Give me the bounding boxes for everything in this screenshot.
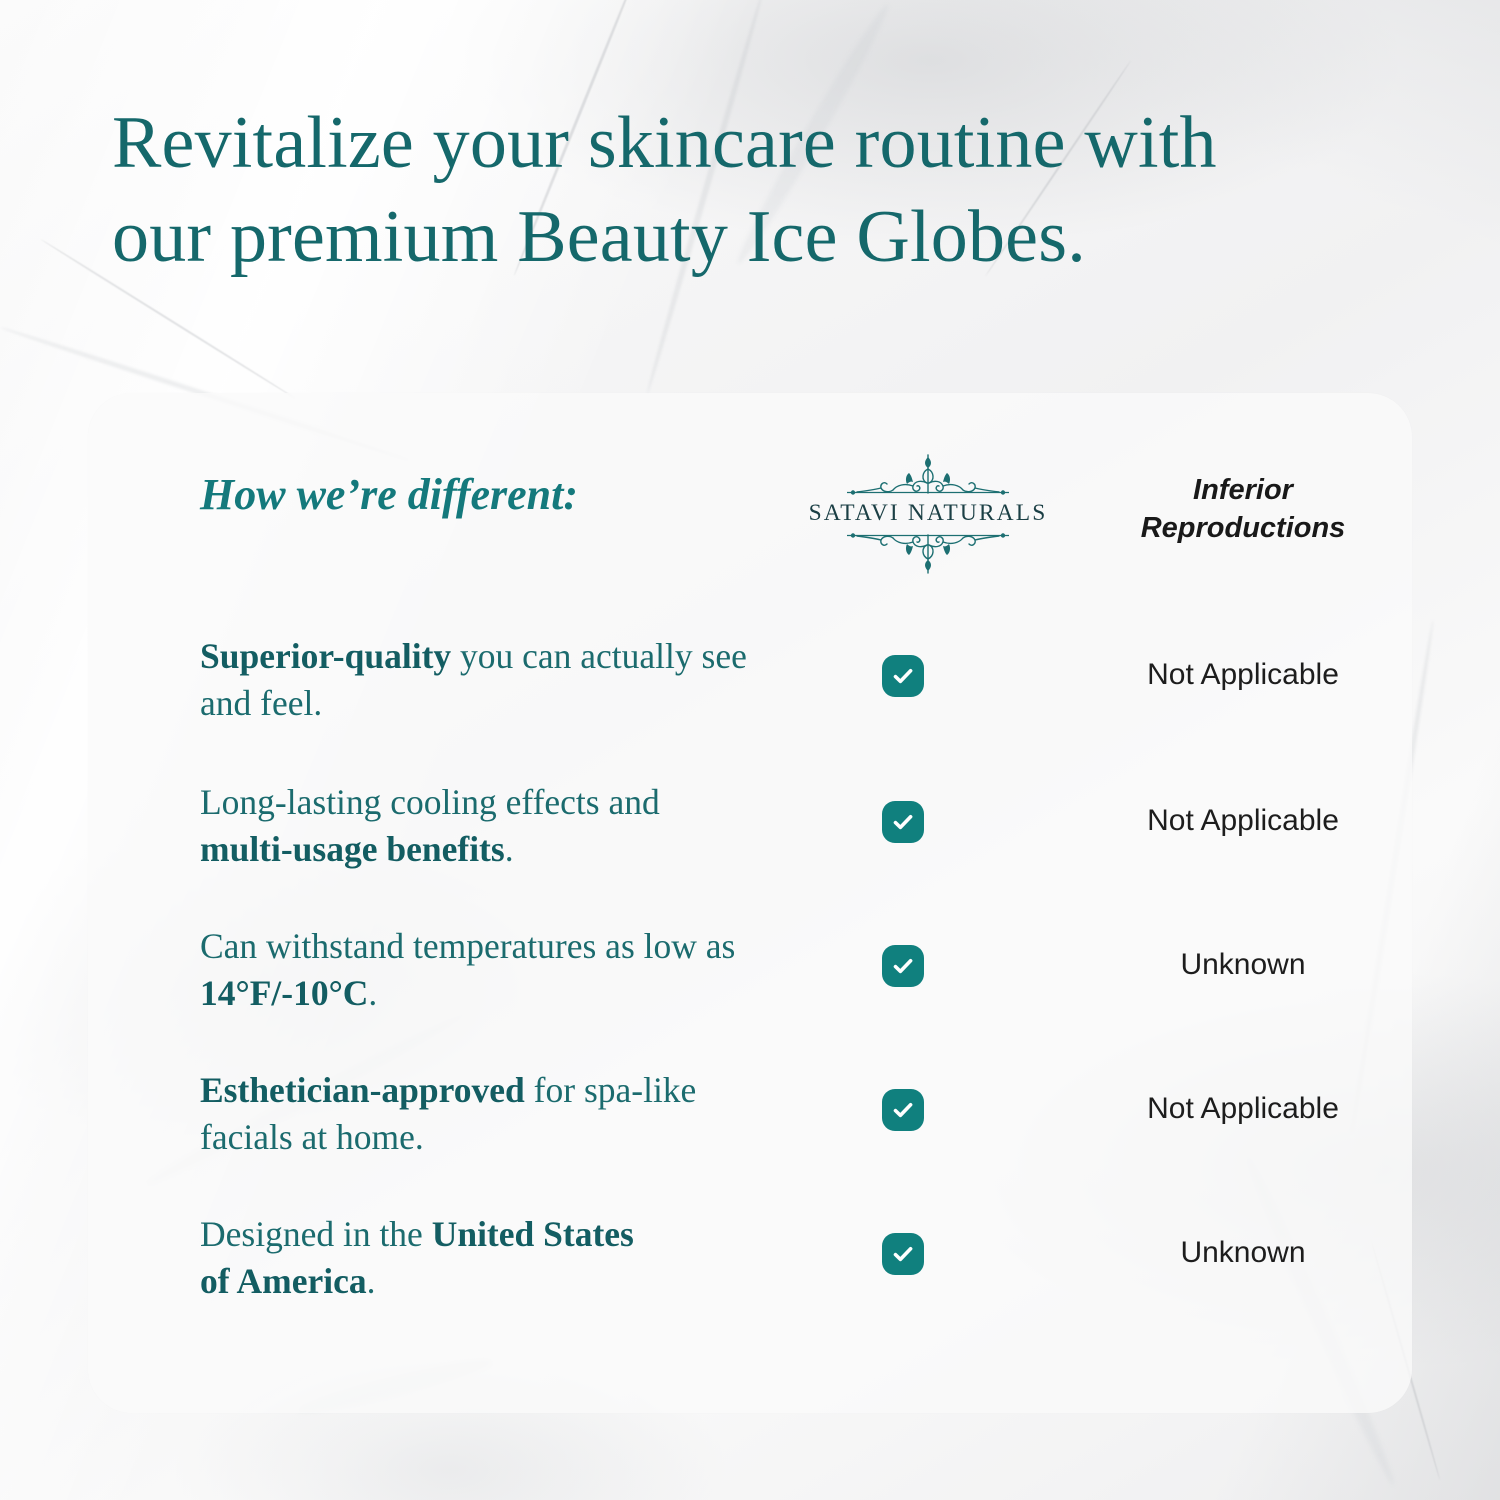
checkmark-glyph-icon — [891, 1242, 915, 1266]
feature-text: Designed in the United States of America… — [200, 1211, 650, 1305]
table-row: Superior-quality you can actually see an… — [88, 633, 1412, 749]
flourish-ornament-top-icon — [823, 453, 1033, 499]
table-row: Can withstand temperatures as low as 14°… — [88, 923, 1412, 1039]
check-icon — [882, 945, 924, 987]
comparison-card: How we’re different: — [88, 393, 1412, 1413]
feature-pre: Can withstand temperatures as low as — [200, 926, 735, 966]
right-header-line-2: Reproductions — [1098, 509, 1388, 547]
checkmark-glyph-icon — [891, 810, 915, 834]
comparison-right-header: Inferior Reproductions — [1098, 471, 1388, 547]
feature-text: Superior-quality you can actually see an… — [200, 633, 760, 727]
comparison-table-header: How we’re different: — [88, 393, 1412, 593]
competitor-status: Not Applicable — [1098, 799, 1388, 843]
competitor-status: Not Applicable — [1098, 653, 1388, 697]
brand-name: SATAVI NATURALS — [788, 500, 1068, 527]
feature-text: Can withstand temperatures as low as 14°… — [200, 923, 780, 1017]
feature-pre: Designed in the — [200, 1214, 432, 1254]
right-header-line-1: Inferior — [1098, 471, 1388, 509]
comparison-infographic: Revitalize your skincare routine with ou… — [0, 0, 1500, 1500]
feature-text: Long-lasting cooling effects and multi-u… — [200, 779, 760, 873]
check-icon — [882, 1233, 924, 1275]
checkmark-glyph-icon — [891, 954, 915, 978]
feature-emphasis: Superior-quality — [200, 636, 451, 676]
check-icon — [882, 801, 924, 843]
check-icon — [882, 1089, 924, 1131]
feature-text: Esthetician-approved for spa-like facial… — [200, 1067, 760, 1161]
table-row: Designed in the United States of America… — [88, 1211, 1412, 1327]
checkmark-glyph-icon — [891, 664, 915, 688]
feature-mid: . — [367, 1261, 376, 1301]
brand-logo: SATAVI NATURALS — [788, 453, 1068, 575]
table-row: Long-lasting cooling effects and multi-u… — [88, 779, 1412, 895]
feature-mid: . — [368, 973, 377, 1013]
checkmark-glyph-icon — [891, 1098, 915, 1122]
feature-mid: . — [505, 829, 514, 869]
competitor-status: Unknown — [1098, 1231, 1388, 1275]
comparison-left-header: How we’re different: — [200, 467, 620, 523]
flourish-ornament-bottom-icon — [823, 529, 1033, 575]
headline-line-1: Revitalize your skincare routine with — [112, 96, 1412, 190]
feature-emphasis: Esthetician-approved — [200, 1070, 525, 1110]
feature-emphasis: 14°F/-10°C — [200, 973, 368, 1013]
competitor-status: Unknown — [1098, 943, 1388, 987]
feature-emphasis: multi-usage benefits — [200, 829, 505, 869]
check-icon — [882, 655, 924, 697]
page-title: Revitalize your skincare routine with ou… — [112, 96, 1412, 284]
competitor-status: Not Applicable — [1098, 1087, 1388, 1131]
headline-line-2: our premium Beauty Ice Globes. — [112, 190, 1412, 284]
table-row: Esthetician-approved for spa-like facial… — [88, 1067, 1412, 1183]
feature-pre: Long-lasting cooling effects and — [200, 782, 660, 822]
